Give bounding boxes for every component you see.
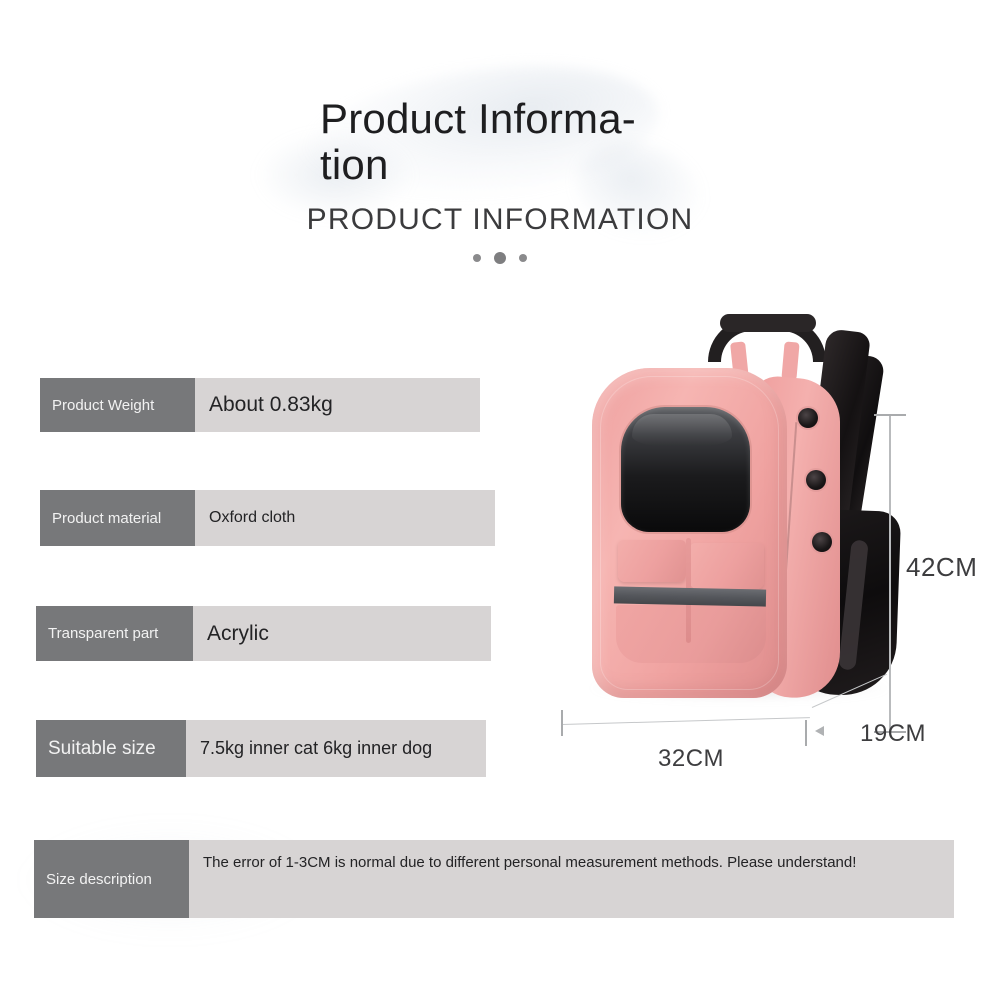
dot-icon — [494, 252, 506, 264]
decorative-dots — [0, 252, 1000, 264]
backpack-window-gloss — [632, 414, 732, 446]
backpack-pocket-flap — [690, 543, 764, 589]
dimension-label-width: 32CM — [658, 745, 724, 773]
spec-row-product-weight: Product Weight About 0.83kg — [40, 378, 480, 432]
spec-value: 7.5kg inner cat 6kg inner dog — [186, 720, 486, 777]
product-information-page: Product Informa- tion PRODUCT INFORMATIO… — [0, 0, 1000, 1000]
dimension-label-depth: 19CM — [860, 720, 926, 748]
spec-label: Suitable size — [36, 720, 186, 777]
spec-label: Product material — [40, 490, 195, 546]
dimension-line-height — [889, 414, 891, 732]
spec-value: About 0.83kg — [195, 378, 480, 432]
dot-icon — [519, 254, 527, 262]
spec-row-transparent-part: Transparent part Acrylic — [36, 606, 491, 661]
backpack-vent-hole-icon — [806, 470, 826, 490]
spec-label: Transparent part — [36, 606, 193, 661]
backpack-pocket-flap — [618, 540, 686, 582]
spec-row-suitable-size: Suitable size 7.5kg inner cat 6kg inner … — [36, 720, 486, 777]
dimension-cap — [805, 720, 807, 746]
dimension-cap — [561, 710, 563, 736]
spec-label: Product Weight — [40, 378, 195, 432]
backpack-handle-pad — [720, 314, 816, 332]
page-title-line-1: Product Informa- — [320, 96, 660, 142]
spec-row-size-description: Size description The error of 1-3CM is n… — [34, 840, 954, 918]
spec-value: Acrylic — [193, 606, 491, 661]
spec-value: Oxford cloth — [195, 490, 495, 546]
dot-icon — [473, 254, 481, 262]
spec-label: Size description — [34, 840, 189, 918]
backpack-vent-hole-icon — [798, 408, 818, 428]
dimension-arrow-icon — [815, 726, 824, 736]
backpack-vent-hole-icon — [812, 532, 832, 552]
backpack-handle-bridge — [781, 341, 799, 380]
page-subtitle: PRODUCT INFORMATION — [0, 203, 1000, 237]
backpack-lower-body — [616, 605, 766, 663]
page-title: Product Informa- tion — [320, 96, 660, 188]
page-title-line-2: tion — [320, 142, 660, 188]
spec-row-product-material: Product material Oxford cloth — [40, 490, 495, 546]
dimension-cap — [874, 414, 906, 416]
backpack-reflective-strip — [614, 586, 766, 606]
dimension-label-height: 42CM — [906, 552, 977, 583]
spec-value: The error of 1-3CM is normal due to diff… — [189, 840, 954, 918]
product-photo — [540, 300, 1000, 800]
